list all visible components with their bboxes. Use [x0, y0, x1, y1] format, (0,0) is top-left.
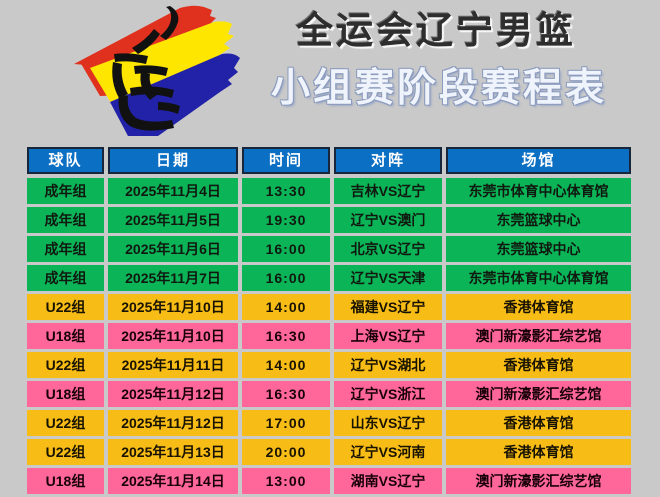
cell-match: 辽宁VS河南: [334, 439, 442, 465]
cell-date: 2025年11月12日: [108, 410, 238, 436]
cell-team: 成年组: [27, 207, 104, 233]
column-header-match: 对阵: [334, 147, 442, 174]
poster-header: 全运会辽宁男篮 小组赛阶段赛程表: [0, 0, 660, 142]
cell-team: 成年组: [27, 236, 104, 262]
table-header-row: 球队 日期 时间 对阵 场馆: [27, 147, 633, 174]
cell-team: U22组: [27, 410, 104, 436]
cell-time: 14:00: [242, 352, 330, 378]
cell-time: 16:30: [242, 323, 330, 349]
cell-date: 2025年11月4日: [108, 178, 238, 204]
cell-match: 北京VS辽宁: [334, 236, 442, 262]
cell-match: 辽宁VS湖北: [334, 352, 442, 378]
page-title: 全运会辽宁男篮: [236, 7, 636, 55]
cell-date: 2025年11月12日: [108, 381, 238, 407]
cell-date: 2025年11月5日: [108, 207, 238, 233]
cell-time: 13:00: [242, 468, 330, 494]
cell-venue: 香港体育馆: [446, 294, 631, 320]
cell-venue: 澳门新濠影汇综艺馆: [446, 323, 631, 349]
column-header-time: 时间: [242, 147, 330, 174]
cell-match: 吉林VS辽宁: [334, 178, 442, 204]
cell-venue: 香港体育馆: [446, 439, 631, 465]
cell-venue: 东莞市体育中心体育馆: [446, 265, 631, 291]
table-row: U22组2025年11月12日17:00山东VS辽宁香港体育馆: [27, 410, 633, 436]
cell-date: 2025年11月6日: [108, 236, 238, 262]
cell-venue: 澳门新濠影汇综艺馆: [446, 468, 631, 494]
table-row: 成年组2025年11月5日19:30辽宁VS澳门东莞篮球中心: [27, 207, 633, 233]
schedule-table: 球队 日期 时间 对阵 场馆 成年组2025年11月4日13:30吉林VS辽宁东…: [27, 147, 633, 497]
table-row: U18组2025年11月10日16:30上海VS辽宁澳门新濠影汇综艺馆: [27, 323, 633, 349]
cell-venue: 香港体育馆: [446, 352, 631, 378]
cell-date: 2025年11月7日: [108, 265, 238, 291]
liaoning-basketball-logo-icon: [62, 2, 242, 138]
cell-date: 2025年11月11日: [108, 352, 238, 378]
cell-date: 2025年11月13日: [108, 439, 238, 465]
cell-match: 上海VS辽宁: [334, 323, 442, 349]
cell-team: 成年组: [27, 178, 104, 204]
cell-team: U18组: [27, 381, 104, 407]
cell-team: U22组: [27, 439, 104, 465]
table-row: 成年组2025年11月4日13:30吉林VS辽宁东莞市体育中心体育馆: [27, 178, 633, 204]
cell-match: 山东VS辽宁: [334, 410, 442, 436]
cell-time: 20:00: [242, 439, 330, 465]
table-row: U22组2025年11月11日14:00辽宁VS湖北香港体育馆: [27, 352, 633, 378]
cell-time: 16:30: [242, 381, 330, 407]
column-header-venue: 场馆: [446, 147, 631, 174]
cell-team: 成年组: [27, 265, 104, 291]
cell-venue: 东莞篮球中心: [446, 236, 631, 262]
cell-match: 福建VS辽宁: [334, 294, 442, 320]
cell-time: 19:30: [242, 207, 330, 233]
cell-venue: 澳门新濠影汇综艺馆: [446, 381, 631, 407]
table-row: U18组2025年11月12日16:30辽宁VS浙江澳门新濠影汇综艺馆: [27, 381, 633, 407]
cell-time: 17:00: [242, 410, 330, 436]
cell-team: U18组: [27, 468, 104, 494]
cell-date: 2025年11月14日: [108, 468, 238, 494]
column-header-date: 日期: [108, 147, 238, 174]
table-row: 成年组2025年11月6日16:00北京VS辽宁东莞篮球中心: [27, 236, 633, 262]
schedule-poster: 全运会辽宁男篮 小组赛阶段赛程表 球队 日期 时间 对阵 场馆 成年组2025年…: [0, 0, 660, 479]
table-row: U18组2025年11月14日13:00湖南VS辽宁澳门新濠影汇综艺馆: [27, 468, 633, 494]
cell-team: U22组: [27, 352, 104, 378]
page-subtitle: 小组赛阶段赛程表: [236, 63, 642, 116]
cell-date: 2025年11月10日: [108, 294, 238, 320]
table-row: U22组2025年11月13日20:00辽宁VS河南香港体育馆: [27, 439, 633, 465]
table-row: 成年组2025年11月7日16:00辽宁VS天津东莞市体育中心体育馆: [27, 265, 633, 291]
table-row: U22组2025年11月10日14:00福建VS辽宁香港体育馆: [27, 294, 633, 320]
cell-match: 辽宁VS浙江: [334, 381, 442, 407]
cell-match: 湖南VS辽宁: [334, 468, 442, 494]
cell-date: 2025年11月10日: [108, 323, 238, 349]
cell-venue: 香港体育馆: [446, 410, 631, 436]
cell-time: 13:30: [242, 178, 330, 204]
cell-match: 辽宁VS澳门: [334, 207, 442, 233]
cell-time: 16:00: [242, 236, 330, 262]
cell-time: 16:00: [242, 265, 330, 291]
cell-venue: 东莞市体育中心体育馆: [446, 178, 631, 204]
cell-team: U18组: [27, 323, 104, 349]
cell-team: U22组: [27, 294, 104, 320]
table-body: 成年组2025年11月4日13:30吉林VS辽宁东莞市体育中心体育馆成年组202…: [27, 178, 633, 494]
column-header-team: 球队: [27, 147, 104, 174]
cell-match: 辽宁VS天津: [334, 265, 442, 291]
title-block: 全运会辽宁男篮 小组赛阶段赛程表: [236, 0, 660, 140]
cell-time: 14:00: [242, 294, 330, 320]
cell-venue: 东莞篮球中心: [446, 207, 631, 233]
